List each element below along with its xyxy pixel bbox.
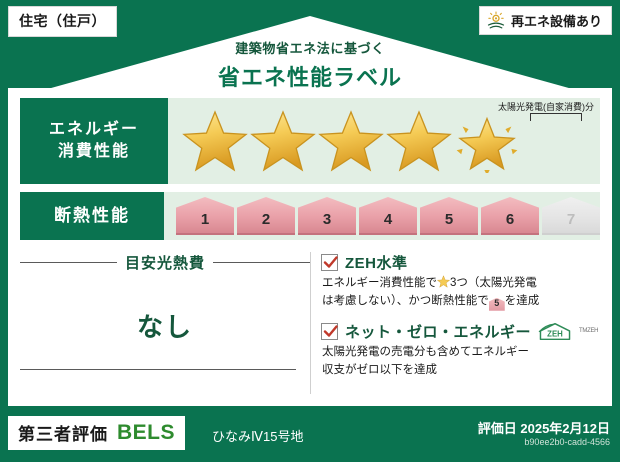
cost-heading-text: 目安光熱費 (125, 252, 205, 273)
section-divider (310, 252, 311, 394)
insulation-level-2: 2 (237, 197, 295, 235)
zeh-standard-description: エネルギー消費性能で3つ（太陽光発電 は考慮しない）、かつ断熱性能で5を達成 (322, 275, 600, 311)
insulation-level-4: 4 (359, 197, 417, 235)
net-zero-desc-part2: 収支がゼロ以下を達成 (322, 364, 437, 376)
star-icon-5-solar (454, 109, 520, 173)
cost-bottom-rule (20, 369, 296, 370)
label-title: 建築物省エネ法に基づく 省エネ性能ラベル (0, 38, 620, 92)
sun-icon (486, 10, 506, 30)
label-body-panel: エネルギー 消費性能 (8, 88, 612, 406)
inline-star-icon (437, 275, 450, 288)
cost-rule-left (20, 262, 117, 263)
evaluation-date: 評価日 2025年2月12日 (478, 418, 610, 437)
zeh-standard-row: ZEH水準 (321, 252, 600, 273)
star-icon-3 (318, 109, 384, 173)
bels-certification-tab: 第三者評価 BELS (8, 416, 185, 450)
check-icon (323, 255, 338, 270)
zeh-house-logo-icon: ZEH (538, 322, 572, 341)
energy-performance-row: エネルギー 消費性能 (20, 98, 600, 184)
title-main: 省エネ性能ラベル (0, 60, 620, 92)
renewable-equipment-badge: 再エネ設備あり (479, 6, 612, 35)
evaluation-id: b90ee2b0-cadd-4566 (524, 437, 610, 447)
net-zero-title: ネット・ゼロ・エネルギー (345, 321, 531, 342)
insulation-level-5: 5 (420, 197, 478, 235)
energy-label-line2: 消費性能 (58, 141, 130, 163)
check-icon (323, 324, 338, 339)
zeh-standard-checkbox[interactable] (321, 254, 338, 271)
zeh-section: ZEH水準 エネルギー消費性能で3つ（太陽光発電 は考慮しない）、かつ断熱性能で… (321, 250, 600, 396)
inline-insulation-badge: 5 (489, 298, 505, 311)
svg-text:ZEH: ZEH (547, 329, 563, 338)
energy-stars-area: 太陽光発電(自家消費)分 (168, 98, 600, 184)
insulation-level-7: 7 (542, 197, 600, 235)
insulation-performance-row: 断熱性能 1 2 3 4 5 6 7 (20, 192, 600, 240)
star-icon-4 (386, 109, 452, 173)
utility-cost-section: 目安光熱費 なし (20, 250, 310, 396)
energy-performance-label: エネルギー 消費性能 (20, 98, 168, 184)
zeh-desc-part2: 3つ（太陽光発電 (450, 277, 537, 289)
title-subtitle: 建築物省エネ法に基づく (0, 38, 620, 57)
cost-rule-right (213, 262, 310, 263)
zeh-desc-part4: を達成 (505, 295, 540, 307)
zeh-standard-title: ZEH水準 (345, 252, 408, 273)
insulation-level-1: 1 (176, 197, 234, 235)
solar-bracket (530, 113, 582, 121)
bottom-sections: 目安光熱費 なし ZEH水準 エネルギー消費性能で3つ（太陽 (20, 250, 600, 396)
star-icon-2 (250, 109, 316, 173)
net-zero-energy-row: ネット・ゼロ・エネルギー ZEH TMZEH (321, 321, 600, 342)
insulation-label-text: 断熱性能 (54, 205, 130, 228)
third-party-label: 第三者評価 (18, 420, 108, 445)
zeh-logo-trademark: TMZEH (579, 328, 598, 334)
net-zero-checkbox[interactable] (321, 323, 338, 340)
utility-cost-heading: 目安光熱費 (20, 252, 310, 273)
bels-logo-text: BELS (117, 421, 175, 445)
building-type-badge: 住宅（住戸） (8, 6, 117, 37)
solar-note-label: 太陽光発電(自家消費)分 (498, 100, 594, 113)
net-zero-description: 太陽光発電の売電分も含めてエネルギー 収支がゼロ以下を達成 (322, 344, 600, 380)
insulation-performance-label: 断熱性能 (20, 192, 164, 240)
energy-label-line1: エネルギー (49, 119, 139, 141)
zeh-desc-part3: は考慮しない）、かつ断熱性能で (322, 295, 489, 307)
insulation-levels-area: 1 2 3 4 5 6 7 (164, 192, 600, 240)
utility-cost-value: なし (20, 307, 310, 344)
renewable-badge-label: 再エネ設備あり (511, 11, 602, 30)
star-icon-1 (182, 109, 248, 173)
insulation-level-6: 6 (481, 197, 539, 235)
zeh-desc-part1: エネルギー消費性能で (322, 277, 437, 289)
energy-label-card: 住宅（住戸） 再エネ設備あり 建築物省エネ法に基づく 省エネ性能ラベル エネルギ… (0, 0, 620, 462)
property-site-name: ひなみⅣ15号地 (212, 426, 303, 445)
insulation-level-3: 3 (298, 197, 356, 235)
label-footer: 第三者評価 BELS ひなみⅣ15号地 評価日 2025年2月12日 b90ee… (0, 406, 620, 462)
net-zero-desc-part1: 太陽光発電の売電分も含めてエネルギー (322, 346, 529, 358)
